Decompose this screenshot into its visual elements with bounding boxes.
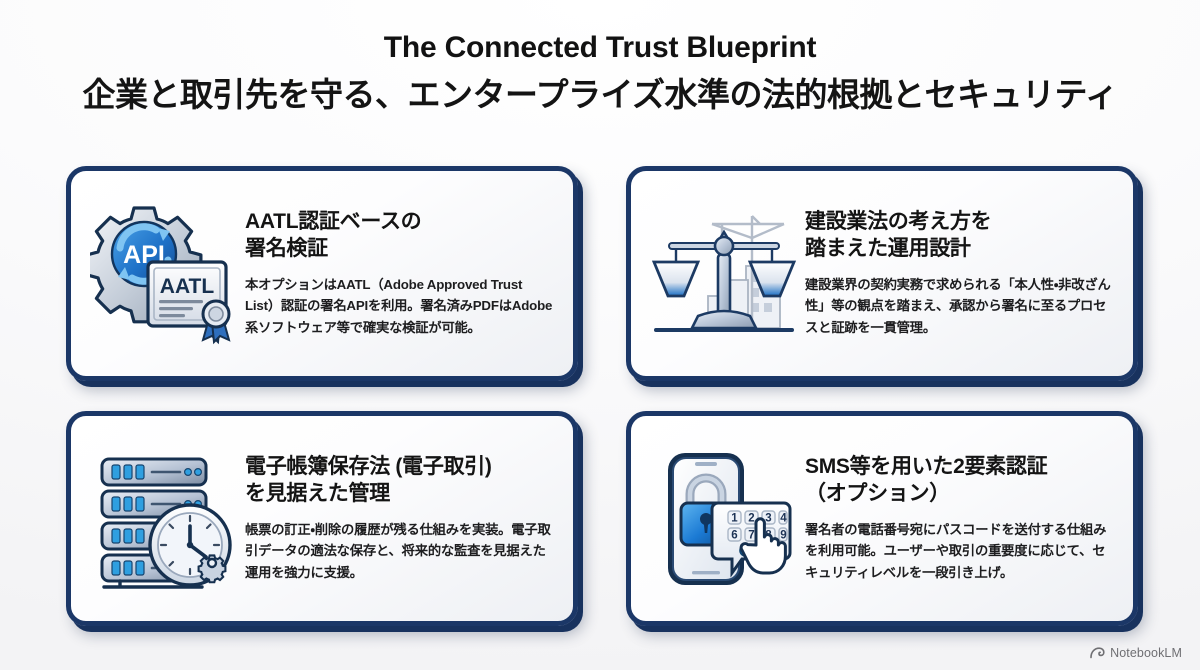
watermark-label: NotebookLM bbox=[1110, 646, 1182, 660]
card-body: SMS等を用いた2要素認証 （オプション） 署名者の電話番号宛にパスコードを送付… bbox=[799, 454, 1117, 583]
feature-card-two-factor-auth[interactable]: 1234 6789 SMS等を用いた2要素認証 （オプション） 署名者の電話番号… bbox=[626, 411, 1138, 626]
scales-of-justice-construction-icon bbox=[649, 199, 799, 349]
card-body: AATL認証ベースの 署名検証 本オプションはAATL（Adobe Approv… bbox=[239, 209, 557, 338]
card-body: 建設業法の考え方を 踏まえた運用設計 建設業界の契約実務で求められる「本人性・非… bbox=[799, 209, 1117, 338]
server-rack-clock-gear-icon bbox=[89, 444, 239, 594]
title-english: The Connected Trust Blueprint bbox=[0, 30, 1200, 65]
feature-card-grid: API AATL bbox=[66, 166, 1138, 626]
svg-text:AATL: AATL bbox=[160, 275, 215, 298]
slide-header: The Connected Trust Blueprint 企業と取引先を守る、… bbox=[0, 30, 1200, 115]
card-title: 建設業法の考え方を 踏まえた運用設計 bbox=[805, 209, 1113, 263]
feature-card-construction-law[interactable]: 建設業法の考え方を 踏まえた運用設計 建設業界の契約実務で求められる「本人性・非… bbox=[626, 166, 1138, 381]
svg-text:2: 2 bbox=[748, 512, 754, 524]
api-aatl-certificate-icon: API AATL bbox=[89, 199, 239, 349]
card-title: AATL認証ベースの 署名検証 bbox=[245, 209, 553, 263]
card-title: SMS等を用いた2要素認証 （オプション） bbox=[805, 454, 1113, 508]
svg-text:6: 6 bbox=[731, 529, 737, 541]
card-description: 本オプションはAATL（Adobe Approved Trust List）認証… bbox=[245, 274, 553, 339]
notebooklm-watermark: NotebookLM bbox=[1090, 646, 1182, 660]
card-description: 署名者の電話番号宛にパスコードを送付する仕組みを利用可能。ユーザーや取引の重要度… bbox=[805, 519, 1113, 584]
svg-text:7: 7 bbox=[748, 529, 754, 541]
card-description: 帳票の訂正・削除の履歴が残る仕組みを実装。電子取引データの適法な保存と、将来的な… bbox=[245, 519, 553, 584]
card-body: 電子帳簿保存法 (電子取引) を見据えた管理 帳票の訂正・削除の履歴が残る仕組み… bbox=[239, 454, 557, 583]
notebooklm-logo-icon bbox=[1090, 647, 1105, 659]
card-title: 電子帳簿保存法 (電子取引) を見据えた管理 bbox=[245, 454, 553, 508]
feature-card-aatl[interactable]: API AATL bbox=[66, 166, 578, 381]
svg-text:9: 9 bbox=[780, 529, 786, 541]
feature-card-ebook-storage-law[interactable]: 電子帳簿保存法 (電子取引) を見据えた管理 帳票の訂正・削除の履歴が残る仕組み… bbox=[66, 411, 578, 626]
card-description: 建設業界の契約実務で求められる「本人性・非改ざん性」等の観点を踏まえ、承認から署… bbox=[805, 274, 1113, 339]
svg-text:3: 3 bbox=[765, 512, 771, 524]
slide-canvas: The Connected Trust Blueprint 企業と取引先を守る、… bbox=[0, 0, 1200, 670]
title-japanese: 企業と取引先を守る、エンタープライズ水準の法的根拠とセキュリティ bbox=[0, 75, 1200, 115]
svg-text:4: 4 bbox=[780, 512, 787, 524]
smartphone-lock-keypad-icon: 1234 6789 bbox=[649, 444, 799, 594]
svg-text:1: 1 bbox=[731, 512, 738, 524]
